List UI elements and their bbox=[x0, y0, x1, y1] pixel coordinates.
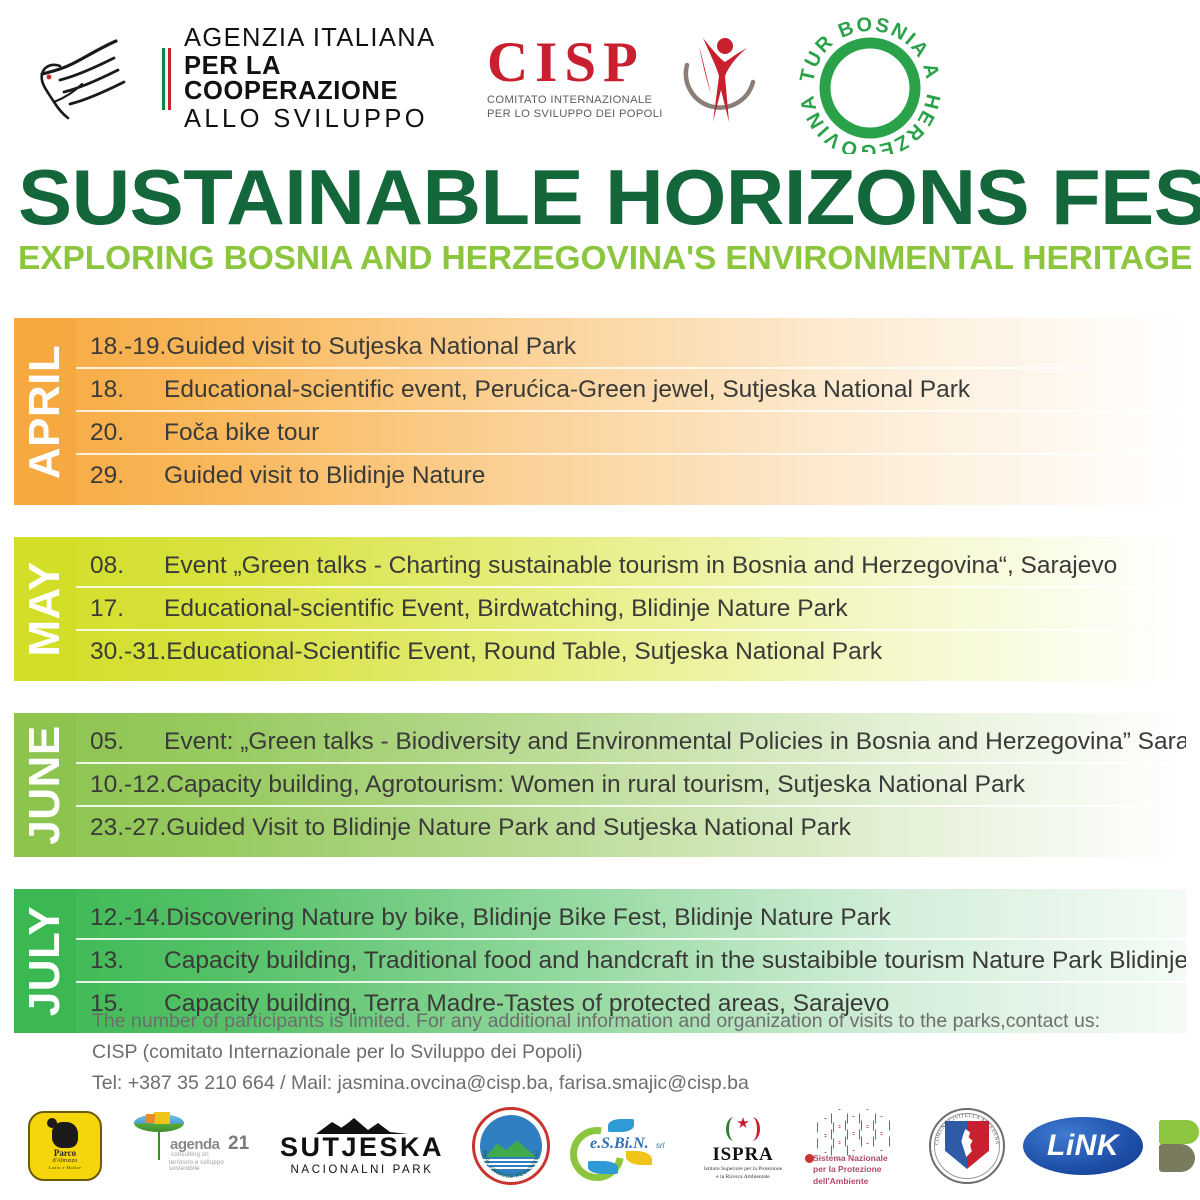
fish-icon bbox=[608, 1119, 634, 1132]
parkovi-prirode-logo: PARK PRIRODE REGIONALNI bbox=[472, 1106, 550, 1186]
month-tab-july: JULY bbox=[14, 889, 76, 1033]
event-row[interactable]: 29. Guided visit to Blidinje Nature bbox=[76, 453, 1186, 496]
aics-line2: PER LA COOPERAZIONE bbox=[184, 54, 440, 105]
footer-note-line2: CISP (comitato Internazionale per lo Svi… bbox=[92, 1037, 1172, 1068]
sutjeska-subtitle: NACIONALNI PARK bbox=[291, 1164, 434, 1176]
abruzzo-line3: Lazio e Molise bbox=[49, 1165, 82, 1170]
abruzzo-line1: Parco bbox=[54, 1149, 76, 1158]
event-rows-june: 05. Event: „Green talks - Biodiversity a… bbox=[76, 713, 1186, 857]
aics-line3: ALLO SVILUPPO bbox=[184, 107, 440, 133]
italian-flag-bars bbox=[162, 48, 171, 110]
month-tab-april: APRIL bbox=[14, 318, 76, 505]
abruzzo-line2: d'Abruzzo bbox=[53, 1158, 78, 1165]
schedule: APRIL 18.-19. Guided visit to Sutjeska N… bbox=[14, 318, 1186, 1065]
event-date: 13. bbox=[76, 947, 164, 975]
title-block: SUSTAINABLE HORIZONS FESTIVAL EXPLORING … bbox=[18, 160, 1182, 276]
agenda-sub1: consulting srl bbox=[171, 1152, 209, 1158]
event-description: Capacity building, Traditional food and … bbox=[164, 947, 1186, 975]
mountains-icon bbox=[312, 1116, 412, 1134]
event-rows-april: 18.-19. Guided visit to Sutjeska Nationa… bbox=[76, 318, 1186, 505]
ispra-logo: ISPRA Istituto Superiore per la Protezio… bbox=[683, 1106, 803, 1186]
link-logo: LiNK bbox=[1023, 1106, 1143, 1186]
agenzia-italiana-logo: AGENZIA ITALIANA PER LA COOPERAZIONE ALL… bbox=[30, 34, 440, 124]
event-date: 10.-12. bbox=[76, 771, 166, 799]
sutjeska-wordmark: SUTJESKA bbox=[280, 1134, 444, 1161]
agenda-sub2: territorio e sviluppo sostenibile bbox=[169, 1160, 254, 1172]
event-row[interactable]: 10.-12. Capacity building, Agrotourism: … bbox=[76, 762, 1186, 805]
event-description: Event „Green talks - Charting sustainabl… bbox=[164, 552, 1186, 580]
event-date: 29. bbox=[76, 462, 164, 490]
month-block-april: APRIL 18.-19. Guided visit to Sutjeska N… bbox=[14, 318, 1186, 505]
svg-text:COMUNE CIVITELLA ALFEDENA: COMUNE CIVITELLA ALFEDENA bbox=[935, 1114, 999, 1145]
sutjeska-np-logo: SUTJESKA NACIONALNI PARK bbox=[272, 1106, 452, 1186]
agenda-wordmark: agenda bbox=[170, 1136, 220, 1153]
esbin-srl: srl bbox=[656, 1141, 664, 1150]
event-description: Educational-Scientific Event, Round Tabl… bbox=[166, 638, 1186, 666]
event-date: 18. bbox=[76, 376, 164, 404]
event-date: 17. bbox=[76, 595, 164, 623]
event-row[interactable]: 13. Capacity building, Traditional food … bbox=[76, 938, 1186, 981]
event-description: Foča bike tour bbox=[164, 419, 1186, 447]
month-tab-may: MAY bbox=[14, 537, 76, 681]
event-date: 30.-31. bbox=[76, 638, 166, 666]
event-row[interactable]: 30.-31. Educational-Scientific Event, Ro… bbox=[76, 629, 1186, 672]
link-wordmark: LiNK bbox=[1047, 1129, 1119, 1163]
cisp-figure-icon bbox=[677, 30, 767, 130]
month-label-may: MAY bbox=[23, 561, 67, 656]
event-row[interactable]: 18. Educational-scientific event, Perući… bbox=[76, 367, 1186, 410]
event-date: 05. bbox=[76, 728, 164, 756]
event-date: 20. bbox=[76, 419, 164, 447]
event-row[interactable]: 05. Event: „Green talks - Biodiversity a… bbox=[76, 721, 1186, 762]
event-row[interactable]: 20. Foča bike tour bbox=[76, 410, 1186, 453]
month-label-june: JUNE bbox=[23, 725, 67, 844]
natur-bih-logo: NATUR BOSNIA AND HERZEGOVINA bbox=[795, 14, 945, 154]
agenda21-logo: agenda 21 consulting srl territorio e sv… bbox=[124, 1106, 254, 1186]
parco-abruzzo-logo: Parco d'Abruzzo Lazio e Molise bbox=[28, 1106, 102, 1186]
event-description: Guided visit to Sutjeska National Park bbox=[166, 333, 1186, 361]
parkovi-circular-text: PARK PRIRODE REGIONALNI bbox=[475, 1110, 547, 1182]
tree-stem-icon bbox=[158, 1130, 160, 1160]
footer-contact-note: The number of participants is limited. F… bbox=[92, 1006, 1172, 1099]
comune-civitella-alfedena-logo: COMUNE CIVITELLA ALFEDENA bbox=[929, 1106, 1005, 1186]
italian-emblem-icon bbox=[726, 1111, 760, 1143]
event-date: 12.-14. bbox=[76, 904, 166, 932]
event-description: Guided visit to Blidinje Nature bbox=[164, 462, 1186, 490]
esbin-wordmark: e.S.Bi.N. bbox=[590, 1135, 649, 1153]
event-description: Guided Visit to Blidinje Nature Park and… bbox=[166, 814, 1186, 842]
header-logos: AGENZIA ITALIANA PER LA COOPERAZIONE ALL… bbox=[0, 0, 1200, 152]
snpa-line3: dell'Ambiente bbox=[813, 1176, 888, 1187]
svg-text:PARK PRIRODE REGIONALNI: PARK PRIRODE REGIONALNI bbox=[481, 1150, 541, 1180]
event-row[interactable]: 17. Educational-scientific Event, Birdwa… bbox=[76, 586, 1186, 629]
month-block-june: JUNE 05. Event: „Green talks - Biodivers… bbox=[14, 713, 1186, 857]
fish-icon bbox=[588, 1161, 618, 1174]
aics-line1: AGENZIA ITALIANA bbox=[184, 26, 440, 52]
agenda-number: 21 bbox=[228, 1133, 249, 1155]
footer-note-line1: The number of participants is limited. F… bbox=[92, 1006, 1172, 1037]
event-description: Capacity building, Agrotourism: Women in… bbox=[166, 771, 1186, 799]
festival-title: SUSTAINABLE HORIZONS FESTIVAL bbox=[18, 160, 1200, 234]
partner-logos: Parco d'Abruzzo Lazio e Molise agenda 21… bbox=[0, 1100, 1200, 1192]
svg-text:HERZEGOVINA: HERZEGOVINA bbox=[796, 92, 944, 154]
event-row[interactable]: 12.-14. Discovering Nature by bike, Blid… bbox=[76, 897, 1186, 938]
month-tab-june: JUNE bbox=[14, 713, 76, 857]
month-label-april: APRIL bbox=[23, 344, 67, 479]
event-description: Educational-scientific event, Perućica-G… bbox=[164, 376, 1186, 404]
month-block-may: MAY 08. Event „Green talks - Charting su… bbox=[14, 537, 1186, 681]
event-row[interactable]: 23.-27. Guided Visit to Blidinje Nature … bbox=[76, 805, 1186, 848]
orange-square-icon bbox=[146, 1114, 155, 1123]
event-description: Discovering Nature by bike, Blidinje Bik… bbox=[166, 904, 1186, 932]
event-row[interactable]: 08. Event „Green talks - Charting sustai… bbox=[76, 545, 1186, 586]
festival-subtitle: EXPLORING BOSNIA AND HERZEGOVINA'S ENVIR… bbox=[18, 242, 1182, 276]
event-date: 08. bbox=[76, 552, 164, 580]
month-label-july: JULY bbox=[23, 906, 67, 1016]
snpa-logo: Sistema Nazionale per la Protezione dell… bbox=[805, 1106, 925, 1186]
ispra-wordmark: ISPRA bbox=[712, 1144, 773, 1166]
leaf-icon bbox=[626, 1151, 652, 1165]
blidinje-mark-icon bbox=[1159, 1118, 1200, 1174]
comune-circular-text: COMUNE CIVITELLA ALFEDENA bbox=[931, 1110, 1003, 1182]
bear-icon bbox=[52, 1122, 78, 1148]
visit-blidinje-logo: visit Blidinje meet & experience bbox=[1159, 1106, 1200, 1186]
event-description: Event: „Green talks - Biodiversity and E… bbox=[164, 728, 1186, 756]
ispra-sub2: e la Ricerca Ambientale bbox=[716, 1174, 770, 1182]
snpa-line2: per la Protezione bbox=[813, 1164, 888, 1175]
esbin-logo: e.S.Bi.N. srl bbox=[564, 1106, 679, 1186]
svg-text:NATUR BOSNIA AND: NATUR BOSNIA AND bbox=[795, 14, 944, 84]
event-date: 23.-27. bbox=[76, 814, 166, 842]
event-row[interactable]: 18.-19. Guided visit to Sutjeska Nationa… bbox=[76, 326, 1186, 367]
footer-note-line3: Tel: +387 35 210 664 / Mail: jasmina.ovc… bbox=[92, 1068, 1172, 1099]
snpa-line1: Sistema Nazionale bbox=[813, 1153, 888, 1164]
yellow-square-icon bbox=[154, 1112, 170, 1124]
event-rows-may: 08. Event „Green talks - Charting sustai… bbox=[76, 537, 1186, 681]
event-description: Educational-scientific Event, Birdwatchi… bbox=[164, 595, 1186, 623]
cisp-logo: CISP COMITATO INTERNAZIONALE PER LO SVIL… bbox=[487, 36, 767, 136]
ispra-sub1: Istituto Superiore per la Protezione bbox=[704, 1166, 782, 1174]
dove-icon bbox=[30, 36, 162, 122]
event-date: 18.-19. bbox=[76, 333, 166, 361]
